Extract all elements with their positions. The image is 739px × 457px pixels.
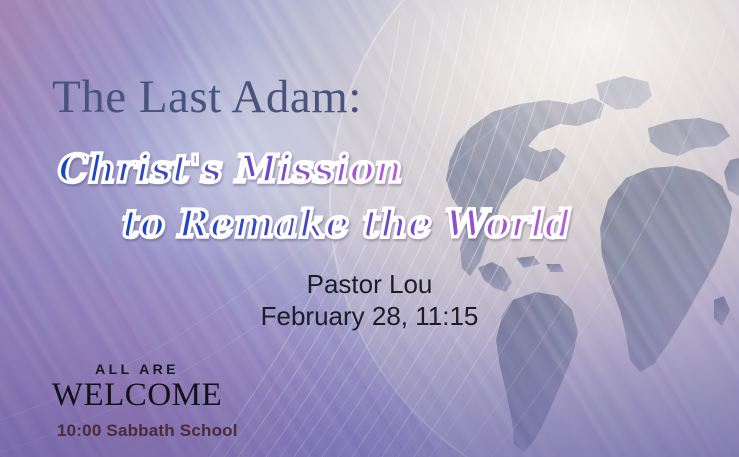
- welcome-kicker: ALL ARE: [47, 362, 227, 376]
- sabbath-school-time: 10:00 Sabbath School: [57, 421, 238, 441]
- welcome-word: WELCOME: [47, 378, 227, 413]
- speaker-name: Pastor Lou: [0, 271, 739, 297]
- all-are-welcome-logo: ALL ARE WELCOME: [47, 362, 227, 413]
- service-datetime: February 28, 11:15: [0, 303, 739, 329]
- sermon-title-slide: The Last Adam: Christ's Mission to Remak…: [0, 0, 739, 457]
- subtitle-line-1: Christ's Mission: [58, 150, 402, 188]
- subtitle-line-2: to Remake the World: [122, 205, 571, 243]
- page-title: The Last Adam:: [52, 74, 362, 121]
